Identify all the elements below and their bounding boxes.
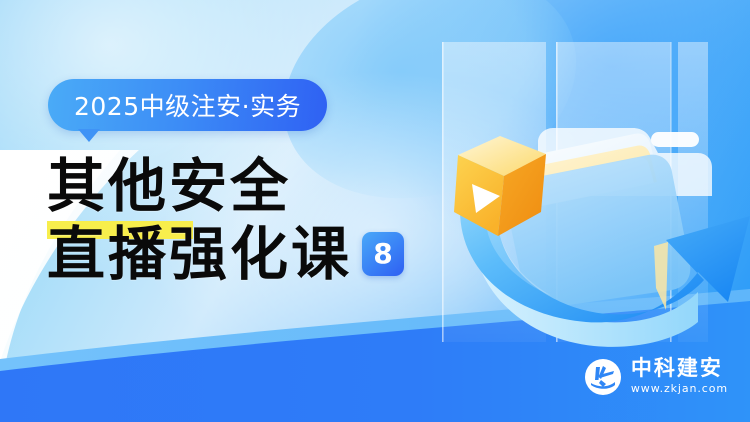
course-illustration	[398, 10, 750, 360]
course-category-label: 2025中级注安·实务	[74, 87, 301, 123]
page-title: 其他安全 直播强化课 8	[47, 152, 404, 288]
brand-name: 中科建安	[631, 357, 728, 380]
document-folder-icon	[502, 128, 712, 308]
zkjan-logo-icon	[584, 358, 622, 396]
play-cube-icon	[454, 136, 546, 236]
course-promo-banner: 2025中级注安·实务 其他安全 直播强化课 8 中科建安 www.zkjan.…	[0, 0, 750, 422]
brand-text: 中科建安 www.zkjan.com	[631, 357, 728, 396]
background-wave	[0, 287, 750, 422]
title-line-2-row: 直播强化课 8	[47, 220, 404, 288]
brand-logo: 中科建安 www.zkjan.com	[584, 357, 728, 396]
badge-tail-icon	[78, 129, 100, 142]
course-category-badge: 2025中级注安·实务	[48, 79, 327, 131]
circular-arrow-icon	[460, 152, 750, 347]
background-panels	[442, 42, 708, 342]
episode-badge: 8	[362, 232, 404, 276]
title-line-2: 直播强化课	[47, 220, 352, 288]
title-line-1: 其他安全	[47, 152, 404, 220]
episode-number: 8	[373, 220, 392, 288]
background-glow-top-right	[350, 0, 750, 280]
brand-url: www.zkjan.com	[631, 382, 728, 396]
